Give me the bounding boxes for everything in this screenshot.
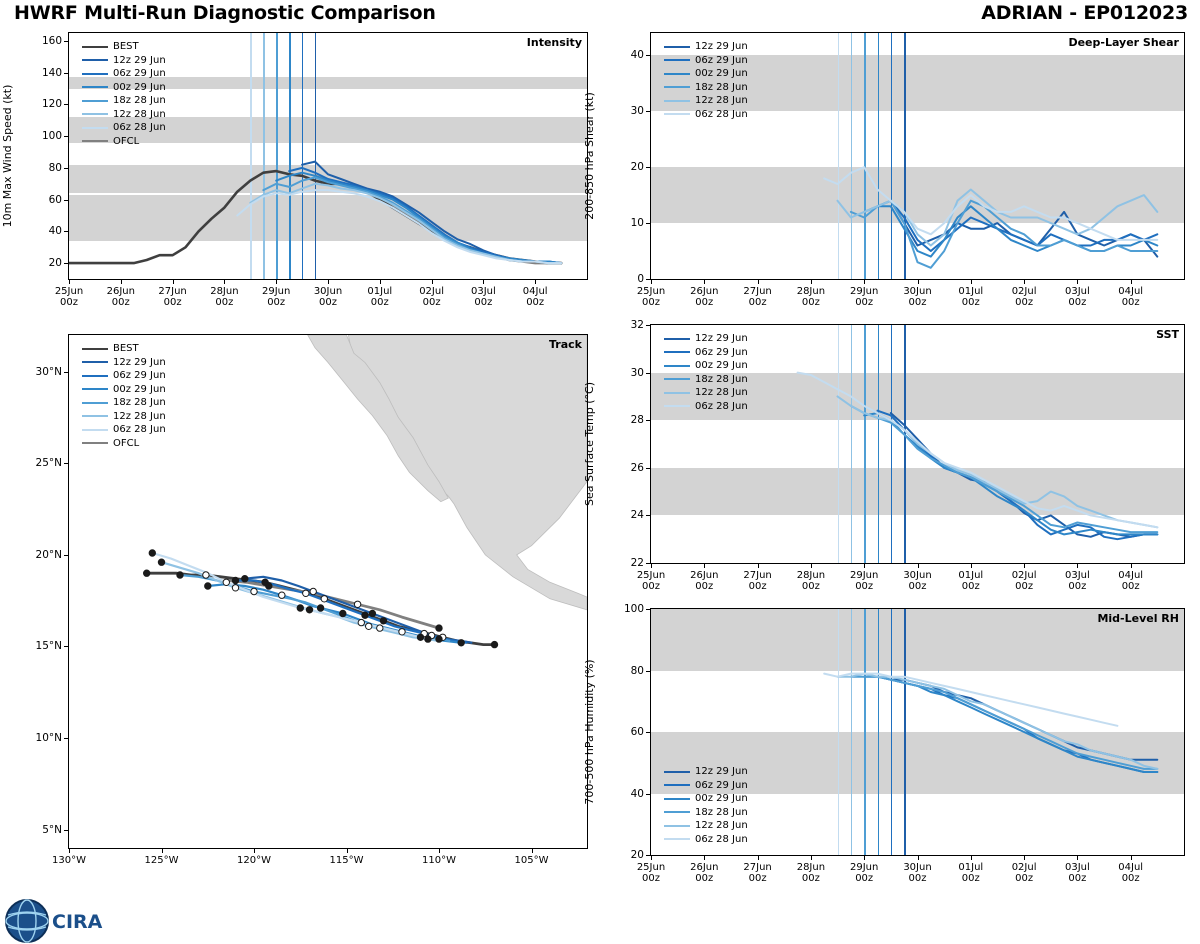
- x-tick-label: 03Jul00z: [1065, 286, 1090, 308]
- legend-entry: 18z 28 Jun: [664, 373, 748, 387]
- x-tick-mark: [380, 279, 381, 284]
- legend-label: 12z 28 Jun: [113, 109, 166, 120]
- y-axis-label-rh: 700-500 hPa Humidity (%): [583, 659, 596, 804]
- y-tick-label: 80: [610, 665, 644, 677]
- legend-entry: 12z 28 Jun: [664, 94, 748, 108]
- legend-entry: 00z 29 Jun: [664, 359, 748, 373]
- legend-swatch: [664, 86, 690, 88]
- series-line: [838, 674, 1158, 769]
- x-tick-label: 29Jun00z: [850, 570, 878, 592]
- x-tick-label: 03Jul00z: [471, 286, 496, 308]
- x-tick-mark: [439, 848, 440, 853]
- series-line: [864, 413, 1157, 534]
- x-tick-label: 01Jul00z: [367, 286, 392, 308]
- x-tick-mark: [651, 279, 652, 284]
- x-tick-mark: [162, 848, 163, 853]
- x-tick-mark: [1131, 855, 1132, 860]
- x-tick-label: 26Jun00z: [107, 286, 135, 308]
- legend-swatch: [664, 46, 690, 48]
- x-tick-label: 28Jun00z: [797, 862, 825, 884]
- y-tick-label: 20: [610, 849, 644, 861]
- legend-swatch: [82, 348, 108, 350]
- x-tick-label: 04Jul00z: [1118, 862, 1143, 884]
- panel-title-shear: Deep-Layer Shear: [985, 36, 1179, 49]
- y-tick-mark: [646, 609, 651, 610]
- y-axis-label-sst: Sea Surface Temp (°C): [583, 382, 596, 506]
- track-marker-00z: [362, 612, 368, 618]
- x-tick-label: 26Jun00z: [690, 570, 718, 592]
- y-tick-label: 60: [610, 726, 644, 738]
- x-tick-label: 30Jun00z: [314, 286, 342, 308]
- legend-swatch: [82, 46, 108, 48]
- legend-swatch: [664, 798, 690, 800]
- legend-swatch: [82, 388, 108, 390]
- legend-label: 06z 29 Jun: [695, 55, 748, 66]
- y-tick-mark: [646, 167, 651, 168]
- legend-swatch: [664, 392, 690, 394]
- x-tick-label: 02Jul00z: [1012, 862, 1037, 884]
- legend-swatch: [664, 811, 690, 813]
- legend-entry: 00z 29 Jun: [82, 383, 166, 397]
- y-tick-mark: [64, 830, 69, 831]
- y-tick-mark: [646, 420, 651, 421]
- y-tick-label: 120: [28, 98, 62, 110]
- x-tick-label: 03Jul00z: [1065, 570, 1090, 592]
- legend-label: 06z 28 Jun: [695, 401, 748, 412]
- series-line: [824, 674, 1117, 726]
- legend-label: 18z 28 Jun: [113, 95, 166, 106]
- x-tick-label: 04Jul00z: [523, 286, 548, 308]
- y-tick-mark: [64, 73, 69, 74]
- track-marker-12z: [232, 585, 238, 591]
- legend-label: 06z 28 Jun: [113, 122, 166, 133]
- x-tick-mark: [918, 563, 919, 568]
- legend-swatch: [664, 338, 690, 340]
- legend-label: 12z 28 Jun: [695, 95, 748, 106]
- x-tick-mark: [918, 279, 919, 284]
- y-tick-mark: [64, 136, 69, 137]
- legend-swatch: [82, 59, 108, 61]
- y-tick-mark: [64, 231, 69, 232]
- x-tick-label: 130°W: [52, 855, 86, 866]
- y-tick-label: 22: [610, 557, 644, 569]
- series-line: [302, 162, 561, 264]
- legend-entry: BEST: [82, 40, 166, 54]
- series-line: [69, 171, 561, 263]
- x-tick-label: 28Jun00z: [210, 286, 238, 308]
- y-tick-mark: [646, 515, 651, 516]
- track-marker-00z: [380, 618, 386, 624]
- legend-label: 12z 29 Jun: [113, 357, 166, 368]
- x-tick-label: 02Jul00z: [1012, 570, 1037, 592]
- legend-swatch: [664, 59, 690, 61]
- x-tick-label: 30Jun00z: [903, 862, 931, 884]
- legend-entry: 12z 28 Jun: [664, 819, 748, 833]
- panel-title-intensity: Intensity: [388, 36, 582, 49]
- legend-label: 06z 28 Jun: [695, 109, 748, 120]
- svg-text:CIRA: CIRA: [52, 911, 103, 933]
- x-tick-mark: [864, 279, 865, 284]
- x-tick-label: 29Jun00z: [850, 286, 878, 308]
- panel-title-track: Track: [388, 338, 582, 351]
- y-tick-label: 40: [610, 49, 644, 61]
- x-tick-label: 25Jun00z: [637, 570, 665, 592]
- legend-swatch: [82, 442, 108, 444]
- legend-entry: 12z 29 Jun: [82, 356, 166, 370]
- legend-shear: 12z 29 Jun06z 29 Jun00z 29 Jun18z 28 Jun…: [664, 40, 748, 121]
- legend-swatch: [82, 415, 108, 417]
- x-tick-mark: [254, 848, 255, 853]
- legend-label: 06z 28 Jun: [695, 834, 748, 845]
- x-tick-label: 04Jul00z: [1118, 286, 1143, 308]
- legend-label: 06z 29 Jun: [113, 370, 166, 381]
- x-tick-mark: [1024, 855, 1025, 860]
- x-tick-label: 30Jun00z: [903, 570, 931, 592]
- x-tick-mark: [704, 855, 705, 860]
- y-tick-mark: [64, 463, 69, 464]
- x-tick-mark: [918, 855, 919, 860]
- x-tick-mark: [1024, 279, 1025, 284]
- legend-swatch: [82, 100, 108, 102]
- legend-swatch: [664, 838, 690, 840]
- y-tick-mark: [646, 55, 651, 56]
- track-marker-00z: [297, 605, 303, 611]
- x-tick-mark: [704, 563, 705, 568]
- y-tick-mark: [64, 372, 69, 373]
- legend-label: 18z 28 Jun: [113, 397, 166, 408]
- y-tick-mark: [646, 223, 651, 224]
- y-tick-mark: [646, 794, 651, 795]
- x-tick-label: 120°W: [237, 855, 271, 866]
- panel-title-sst: SST: [985, 328, 1179, 341]
- page-title: HWRF Multi-Run Diagnostic Comparison: [14, 2, 436, 24]
- legend-entry: 06z 29 Jun: [82, 67, 166, 81]
- legend-swatch: [664, 405, 690, 407]
- y-tick-label: 60: [28, 194, 62, 206]
- y-tick-label: 25°N: [20, 457, 62, 469]
- legend-swatch: [82, 86, 108, 88]
- legend-label: 00z 29 Jun: [695, 68, 748, 79]
- legend-label: 06z 28 Jun: [113, 424, 166, 435]
- legend-entry: 06z 29 Jun: [664, 346, 748, 360]
- storm-id-title: ADRIAN - EP012023: [981, 2, 1188, 24]
- y-tick-label: 5°N: [20, 824, 62, 836]
- x-tick-mark: [276, 279, 277, 284]
- x-tick-label: 125°W: [145, 855, 179, 866]
- y-tick-label: 100: [28, 130, 62, 142]
- legend-entry: BEST: [82, 342, 166, 356]
- legend-label: 12z 28 Jun: [695, 820, 748, 831]
- x-tick-label: 26Jun00z: [690, 286, 718, 308]
- x-tick-mark: [651, 563, 652, 568]
- y-tick-mark: [64, 555, 69, 556]
- legend-label: 12z 29 Jun: [695, 766, 748, 777]
- track-marker-12z: [279, 592, 285, 598]
- legend-label: OFCL: [113, 136, 139, 147]
- legend-entry: 06z 29 Jun: [664, 779, 748, 793]
- legend-swatch: [82, 429, 108, 431]
- track-marker-00z: [458, 640, 464, 646]
- y-tick-mark: [64, 738, 69, 739]
- x-tick-mark: [864, 563, 865, 568]
- legend-entry: 06z 28 Jun: [664, 833, 748, 847]
- legend-entry: 18z 28 Jun: [664, 81, 748, 95]
- x-tick-mark: [532, 848, 533, 853]
- y-tick-mark: [646, 732, 651, 733]
- legend-swatch: [664, 351, 690, 353]
- legend-entry: 12z 29 Jun: [664, 332, 748, 346]
- legend-label: 00z 29 Jun: [113, 384, 166, 395]
- y-tick-label: 20°N: [20, 549, 62, 561]
- x-tick-label: 28Jun00z: [797, 570, 825, 592]
- legend-entry: 12z 28 Jun: [82, 410, 166, 424]
- legend-entry: 06z 29 Jun: [664, 54, 748, 68]
- x-tick-mark: [69, 279, 70, 284]
- x-tick-mark: [173, 279, 174, 284]
- track-line: [152, 553, 431, 639]
- x-tick-label: 115°W: [330, 855, 364, 866]
- legend-swatch: [664, 113, 690, 115]
- x-tick-mark: [69, 848, 70, 853]
- series-line: [891, 201, 1158, 257]
- track-marker-00z: [158, 559, 164, 565]
- x-tick-label: 01Jul00z: [958, 286, 983, 308]
- x-tick-label: 25Jun00z: [637, 862, 665, 884]
- legend-label: OFCL: [113, 438, 139, 449]
- series-line: [838, 396, 1158, 527]
- legend-swatch: [664, 784, 690, 786]
- legend-entry: 06z 28 Jun: [82, 121, 166, 135]
- series-line: [891, 413, 1158, 537]
- y-tick-label: 40: [28, 225, 62, 237]
- y-tick-label: 24: [610, 509, 644, 521]
- x-tick-mark: [483, 279, 484, 284]
- x-tick-label: 27Jun00z: [743, 570, 771, 592]
- y-tick-label: 30: [610, 367, 644, 379]
- y-tick-mark: [64, 646, 69, 647]
- y-tick-mark: [64, 41, 69, 42]
- y-tick-mark: [64, 263, 69, 264]
- legend-label: 00z 29 Jun: [695, 793, 748, 804]
- x-tick-label: 02Jul00z: [1012, 286, 1037, 308]
- y-tick-label: 100: [610, 603, 644, 615]
- track-marker-12z: [303, 590, 309, 596]
- x-tick-label: 29Jun00z: [850, 862, 878, 884]
- panel-title-rh: Mid-Level RH: [985, 612, 1179, 625]
- x-tick-label: 110°W: [422, 855, 456, 866]
- y-tick-label: 20: [28, 257, 62, 269]
- y-tick-label: 30°N: [20, 366, 62, 378]
- x-tick-mark: [347, 848, 348, 853]
- y-tick-label: 15°N: [20, 640, 62, 652]
- x-tick-mark: [971, 563, 972, 568]
- track-marker-12z: [321, 596, 327, 602]
- x-tick-label: 26Jun00z: [690, 862, 718, 884]
- legend-entry: 06z 28 Jun: [664, 108, 748, 122]
- legend-label: BEST: [113, 41, 139, 52]
- x-tick-mark: [1077, 855, 1078, 860]
- legend-entry: 00z 29 Jun: [664, 67, 748, 81]
- x-tick-mark: [811, 563, 812, 568]
- y-axis-label-shear: 200-850 hPa Shear (kt): [583, 92, 596, 220]
- y-tick-mark: [646, 325, 651, 326]
- track-marker-00z: [436, 625, 442, 631]
- track-marker-00z: [436, 636, 442, 642]
- legend-swatch: [664, 771, 690, 773]
- x-tick-label: 04Jul00z: [1118, 570, 1143, 592]
- x-tick-label: 27Jun00z: [743, 286, 771, 308]
- y-tick-mark: [64, 104, 69, 105]
- track-marker-00z: [177, 572, 183, 578]
- legend-swatch: [664, 73, 690, 75]
- legend-entry: 12z 28 Jun: [664, 386, 748, 400]
- track-marker-12z: [399, 629, 405, 635]
- track-marker-00z: [425, 636, 431, 642]
- header: HWRF Multi-Run Diagnostic Comparison ADR…: [0, 0, 1200, 28]
- x-tick-label: 27Jun00z: [743, 862, 771, 884]
- legend-entry: 06z 29 Jun: [82, 369, 166, 383]
- legend-swatch: [82, 73, 108, 75]
- legend-label: 12z 29 Jun: [113, 55, 166, 66]
- x-tick-label: 27Jun00z: [158, 286, 186, 308]
- x-tick-mark: [758, 563, 759, 568]
- x-tick-label: 01Jul00z: [958, 570, 983, 592]
- y-axis-label-intensity: 10m Max Wind Speed (kt): [1, 85, 14, 228]
- y-tick-label: 28: [610, 414, 644, 426]
- x-tick-mark: [1077, 279, 1078, 284]
- legend-entry: OFCL: [82, 437, 166, 451]
- legend-label: 06z 29 Jun: [695, 780, 748, 791]
- x-tick-label: 01Jul00z: [958, 862, 983, 884]
- y-tick-mark: [646, 111, 651, 112]
- track-marker-00z: [149, 550, 155, 556]
- legend-track: BEST12z 29 Jun06z 29 Jun00z 29 Jun18z 28…: [82, 342, 166, 450]
- y-tick-label: 30: [610, 105, 644, 117]
- x-tick-label: 25Jun00z: [55, 286, 83, 308]
- legend-entry: 12z 29 Jun: [82, 54, 166, 68]
- x-tick-mark: [971, 855, 972, 860]
- x-tick-mark: [535, 279, 536, 284]
- y-tick-mark: [646, 468, 651, 469]
- x-tick-label: 25Jun00z: [637, 286, 665, 308]
- track-marker-00z: [340, 610, 346, 616]
- track-marker-12z: [251, 588, 257, 594]
- y-tick-label: 32: [610, 319, 644, 331]
- legend-entry: 00z 29 Jun: [82, 81, 166, 95]
- legend-label: 12z 28 Jun: [113, 411, 166, 422]
- legend-label: 12z 28 Jun: [695, 387, 748, 398]
- y-tick-mark: [646, 373, 651, 374]
- y-tick-label: 140: [28, 67, 62, 79]
- series-line: [824, 167, 1157, 240]
- track-marker-12z: [223, 579, 229, 585]
- legend-label: 00z 29 Jun: [113, 82, 166, 93]
- y-tick-label: 10: [610, 217, 644, 229]
- y-tick-label: 40: [610, 788, 644, 800]
- legend-label: 18z 28 Jun: [695, 82, 748, 93]
- track-marker-00z: [306, 607, 312, 613]
- x-tick-mark: [651, 855, 652, 860]
- legend-swatch: [82, 127, 108, 129]
- legend-swatch: [664, 365, 690, 367]
- series-line: [250, 184, 561, 263]
- legend-swatch: [664, 100, 690, 102]
- y-tick-mark: [64, 200, 69, 201]
- x-tick-label: 105°W: [515, 855, 549, 866]
- x-tick-mark: [1077, 563, 1078, 568]
- legend-label: 12z 29 Jun: [695, 333, 748, 344]
- x-tick-mark: [811, 279, 812, 284]
- y-tick-label: 160: [28, 35, 62, 47]
- legend-swatch: [664, 378, 690, 380]
- legend-sst: 12z 29 Jun06z 29 Jun00z 29 Jun18z 28 Jun…: [664, 332, 748, 413]
- x-tick-mark: [864, 855, 865, 860]
- track-marker-00z: [144, 570, 150, 576]
- legend-label: BEST: [113, 343, 139, 354]
- x-tick-label: 02Jul00z: [419, 286, 444, 308]
- x-tick-mark: [704, 279, 705, 284]
- x-tick-mark: [758, 279, 759, 284]
- x-tick-mark: [1131, 279, 1132, 284]
- legend-intensity: BEST12z 29 Jun06z 29 Jun00z 29 Jun18z 28…: [82, 40, 166, 148]
- legend-swatch: [664, 825, 690, 827]
- track-marker-12z: [354, 601, 360, 607]
- legend-entry: 06z 28 Jun: [82, 423, 166, 437]
- x-tick-mark: [811, 855, 812, 860]
- x-tick-mark: [328, 279, 329, 284]
- legend-swatch: [82, 113, 108, 115]
- track-marker-00z: [417, 634, 423, 640]
- track-marker-00z: [317, 605, 323, 611]
- x-tick-label: 03Jul00z: [1065, 862, 1090, 884]
- x-tick-label: 28Jun00z: [797, 286, 825, 308]
- legend-entry: 12z 29 Jun: [664, 765, 748, 779]
- legend-entry: 18z 28 Jun: [82, 94, 166, 108]
- legend-label: 18z 28 Jun: [695, 807, 748, 818]
- y-tick-label: 80: [28, 162, 62, 174]
- track-marker-00z: [491, 641, 497, 647]
- y-tick-label: 0: [610, 273, 644, 285]
- track-marker-12z: [310, 588, 316, 594]
- track-marker-12z: [358, 619, 364, 625]
- legend-entry: 18z 28 Jun: [82, 396, 166, 410]
- legend-entry: 18z 28 Jun: [664, 806, 748, 820]
- track-marker-00z: [232, 577, 238, 583]
- y-tick-mark: [64, 168, 69, 169]
- series-line: [798, 373, 1158, 528]
- legend-swatch: [82, 140, 108, 142]
- track-marker-00z: [242, 576, 248, 582]
- legend-rh: 12z 29 Jun06z 29 Jun00z 29 Jun18z 28 Jun…: [664, 765, 748, 846]
- legend-swatch: [82, 361, 108, 363]
- x-tick-mark: [121, 279, 122, 284]
- track-marker-00z: [369, 610, 375, 616]
- x-tick-label: 30Jun00z: [903, 286, 931, 308]
- legend-label: 00z 29 Jun: [695, 360, 748, 371]
- y-tick-label: 20: [610, 161, 644, 173]
- x-tick-mark: [1024, 563, 1025, 568]
- x-tick-mark: [758, 855, 759, 860]
- y-tick-label: 10°N: [20, 732, 62, 744]
- x-tick-mark: [1131, 563, 1132, 568]
- x-tick-mark: [224, 279, 225, 284]
- legend-label: 12z 29 Jun: [695, 41, 748, 52]
- legend-entry: 06z 28 Jun: [664, 400, 748, 414]
- track-marker-00z: [205, 583, 211, 589]
- x-tick-label: 29Jun00z: [262, 286, 290, 308]
- legend-entry: OFCL: [82, 135, 166, 149]
- track-marker-12z: [203, 572, 209, 578]
